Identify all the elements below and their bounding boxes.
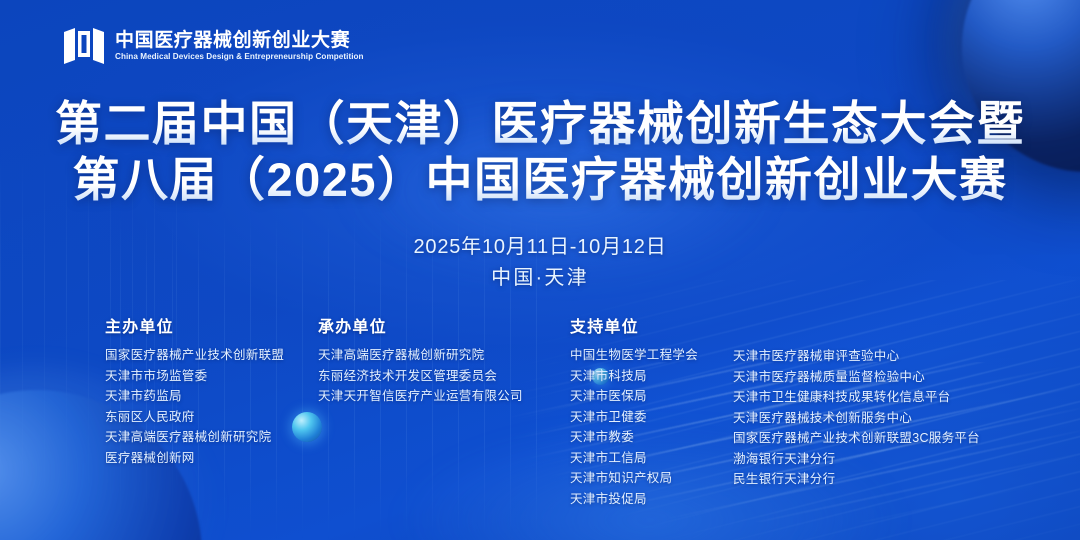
sponsor-column-host: 承办单位 天津高端医疗器械创新研究院 东丽经济技术开发区管理委员会 天津天开智信… bbox=[318, 318, 523, 407]
conference-poster: 中国医疗器械创新创业大赛 China Medical Devices Desig… bbox=[0, 0, 1080, 540]
list-item: 天津市投促局 bbox=[570, 489, 698, 510]
list-item: 天津天开智信医疗产业运营有限公司 bbox=[318, 386, 523, 407]
list-item: 民生银行天津分行 bbox=[733, 469, 980, 490]
sponsor-heading-host: 承办单位 bbox=[318, 318, 523, 338]
sponsor-list-support-2: 天津市医疗器械审评查验中心 天津市医疗器械质量监督检验中心 天津市卫生健康科技成… bbox=[733, 346, 980, 490]
sponsor-heading-organizer: 主办单位 bbox=[105, 318, 284, 338]
sponsor-list-support-1: 中国生物医学工程学会 天津市科技局 天津市医保局 天津市卫健委 天津市教委 天津… bbox=[570, 345, 698, 509]
list-item: 天津市医疗器械质量监督检验中心 bbox=[733, 367, 980, 388]
logo-name-en: China Medical Devices Design & Entrepren… bbox=[115, 52, 364, 61]
sponsor-column-support: 支持单位 中国生物医学工程学会 天津市科技局 天津市医保局 天津市卫健委 天津市… bbox=[570, 318, 698, 509]
open-book-icon bbox=[62, 26, 106, 66]
list-item: 国家医疗器械产业技术创新联盟 bbox=[105, 345, 284, 366]
sponsor-list-host: 天津高端医疗器械创新研究院 东丽经济技术开发区管理委员会 天津天开智信医疗产业运… bbox=[318, 345, 523, 407]
list-item: 医疗器械创新网 bbox=[105, 448, 284, 469]
list-item: 天津市药监局 bbox=[105, 386, 284, 407]
list-item: 天津市医疗器械审评查验中心 bbox=[733, 346, 980, 367]
list-item: 天津市卫生健康科技成果转化信息平台 bbox=[733, 387, 980, 408]
event-meta: 2025年10月11日-10月12日 中国·天津 bbox=[0, 232, 1080, 294]
list-item: 天津市医保局 bbox=[570, 386, 698, 407]
list-item: 天津市知识产权局 bbox=[570, 468, 698, 489]
sphere-small-cyan bbox=[292, 412, 322, 442]
list-item: 渤海银行天津分行 bbox=[733, 449, 980, 470]
logo-text-block: 中国医疗器械创新创业大赛 China Medical Devices Desig… bbox=[115, 31, 374, 61]
list-item: 天津医疗器械技术创新服务中心 bbox=[733, 408, 980, 429]
title-line-2: 第八届（2025）中国医疗器械创新创业大赛 bbox=[0, 152, 1080, 208]
list-item: 国家医疗器械产业技术创新联盟3C服务平台 bbox=[733, 428, 980, 449]
list-item: 中国生物医学工程学会 bbox=[570, 345, 698, 366]
list-item: 天津市教委 bbox=[570, 427, 698, 448]
event-date: 2025年10月11日-10月12日 bbox=[0, 232, 1080, 262]
competition-logo: 中国医疗器械创新创业大赛 China Medical Devices Desig… bbox=[62, 26, 374, 66]
list-item: 天津市工信局 bbox=[570, 448, 698, 469]
list-item: 天津市市场监管委 bbox=[105, 366, 284, 387]
title-line-1: 第二届中国（天津）医疗器械创新生态大会暨 bbox=[0, 96, 1080, 152]
poster-title: 第二届中国（天津）医疗器械创新生态大会暨 第八届（2025）中国医疗器械创新创业… bbox=[0, 96, 1080, 208]
list-item: 东丽经济技术开发区管理委员会 bbox=[318, 366, 523, 387]
sponsor-list-organizer: 国家医疗器械产业技术创新联盟 天津市市场监管委 天津市药监局 东丽区人民政府 天… bbox=[105, 345, 284, 468]
sponsor-heading-support: 支持单位 bbox=[570, 318, 698, 338]
list-item: 天津市卫健委 bbox=[570, 407, 698, 428]
list-item: 天津高端医疗器械创新研究院 bbox=[318, 345, 523, 366]
list-item: 东丽区人民政府 bbox=[105, 407, 284, 428]
logo-name-cn: 中国医疗器械创新创业大赛 bbox=[115, 31, 374, 50]
list-item: 天津市科技局 bbox=[570, 366, 698, 387]
list-item: 天津高端医疗器械创新研究院 bbox=[105, 427, 284, 448]
event-location: 中国·天津 bbox=[0, 262, 1080, 294]
sponsor-column-support-secondary: 天津市医疗器械审评查验中心 天津市医疗器械质量监督检验中心 天津市卫生健康科技成… bbox=[733, 346, 980, 490]
sponsor-column-organizer: 主办单位 国家医疗器械产业技术创新联盟 天津市市场监管委 天津市药监局 东丽区人… bbox=[105, 318, 284, 468]
